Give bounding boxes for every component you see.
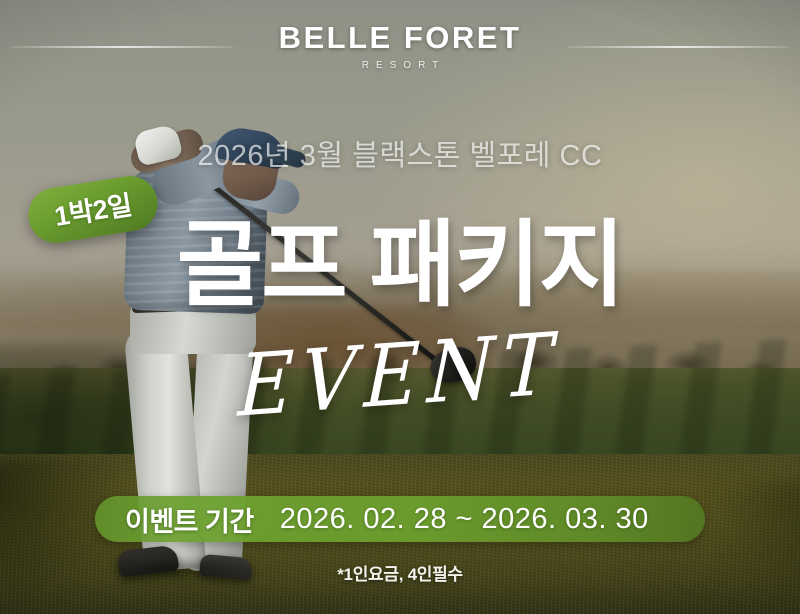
horizontal-rule-icon-left xyxy=(11,46,233,48)
page-title: 골프 패키지 xyxy=(0,218,800,312)
brand-lockup: BELLE FORET RESORT xyxy=(279,22,522,71)
horizontal-rule-icon-right xyxy=(567,46,789,48)
event-subtitle: 2026년 3월 블랙스톤 벨포레 CC xyxy=(0,132,800,174)
promo-banner: BELLE FORET RESORT 2026년 3월 블랙스톤 벨포레 CC … xyxy=(0,0,800,614)
event-period-value: 2026. 02. 28 ~ 2026. 03. 30 xyxy=(280,503,649,536)
brand-header: BELLE FORET RESORT xyxy=(0,22,800,71)
brand-subtitle: RESORT xyxy=(279,60,522,71)
event-period-label: 이벤트 기간 xyxy=(125,500,254,539)
brand-name: BELLE FORET xyxy=(279,22,522,53)
footnote-text: *1인요금, 4인필수 xyxy=(0,560,800,585)
event-period-bar: 이벤트 기간 2026. 02. 28 ~ 2026. 03. 30 xyxy=(95,496,705,542)
